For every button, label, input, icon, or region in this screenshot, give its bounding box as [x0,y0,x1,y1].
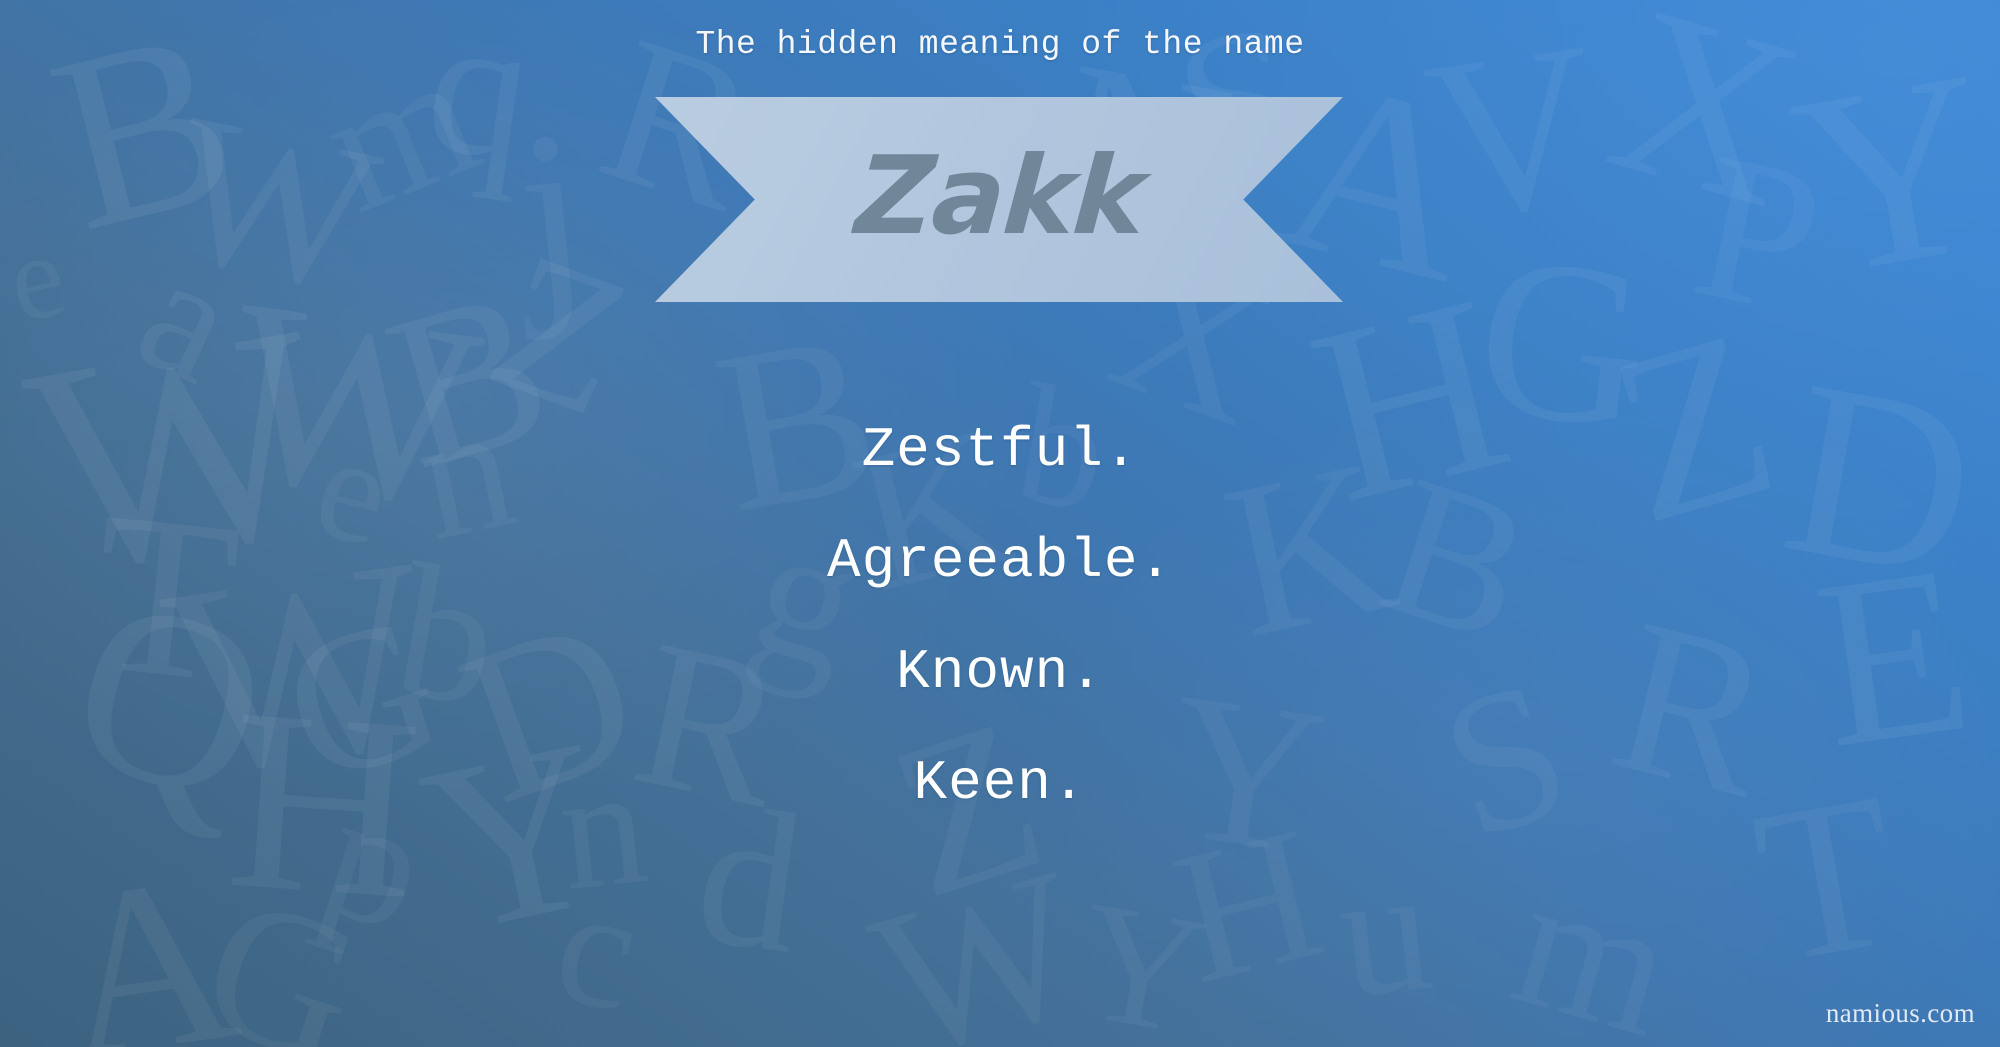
page-title: The hidden meaning of the name [0,26,2000,63]
background-letter: c [547,874,649,1023]
meaning-list: Zestful.Agreeable.Known.Keen. [0,395,2000,839]
site-watermark: namious.com [1826,998,1975,1029]
meaning-line: Keen. [0,728,2000,839]
background-letter: a [125,240,251,395]
meaning-line: Zestful. [0,395,2000,506]
name-meaning-card: BWmqjRaWWBZneTWQGbDHYpnRBgKdZNSAVXYPHXGZ… [0,0,2000,1047]
background-letter: W [160,101,389,307]
background-letter: Y [1069,890,1214,1045]
meaning-line: Agreeable. [0,506,2000,617]
background-letter: j [511,117,594,307]
background-letter: A [47,859,245,1047]
background-letter: H [1164,816,1334,997]
background-letter: u [1333,856,1438,1009]
background-letter: m [1502,863,1686,1047]
background-letter: Y [1783,55,2000,292]
background-letter: m [308,39,492,225]
background-letter: P [1684,140,1833,329]
name-banner-ribbon: Zakk [655,97,1343,302]
background-letter: G [189,882,376,1047]
background-letter: e [1,226,73,331]
name-text: Zakk [852,143,1147,257]
meaning-line: Known. [0,617,2000,728]
background-letter: W [861,856,1098,1047]
